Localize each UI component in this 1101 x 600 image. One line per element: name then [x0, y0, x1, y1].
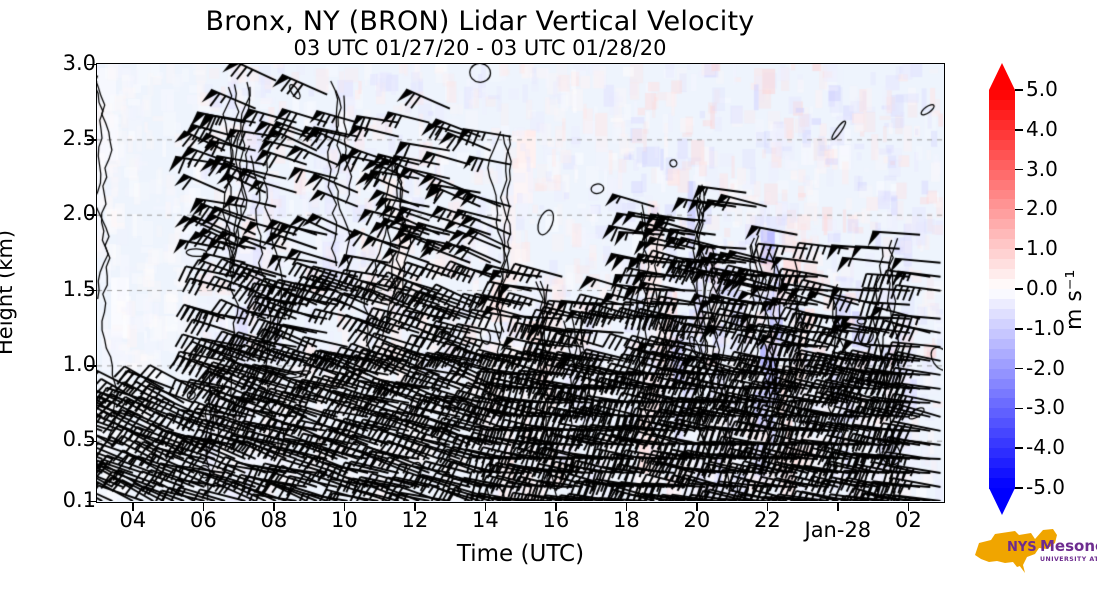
colorbar-segment — [989, 369, 1015, 380]
colorbar-extend-max-icon — [989, 63, 1015, 90]
x-tick-mark — [132, 502, 134, 511]
x-tick-label: 18 — [591, 508, 661, 532]
colorbar-tick-mark — [1015, 209, 1023, 211]
colorbar-tick-label: -1.0 — [1026, 316, 1065, 340]
colorbar-tick-label: 4.0 — [1026, 117, 1058, 141]
colorbar: 5.04.03.02.01.00.0-1.0-2.0-3.0-4.0-5.0 — [989, 63, 1015, 491]
colorbar-segment — [989, 180, 1015, 191]
colorbar-segment — [989, 319, 1015, 330]
colorbar-segment — [989, 110, 1015, 121]
x-tick-mark — [767, 502, 769, 511]
colorbar-segment — [989, 428, 1015, 439]
x-tick-label: 02 — [873, 508, 943, 532]
colorbar-extend-min-icon — [989, 488, 1015, 515]
colorbar-segment — [989, 160, 1015, 171]
colorbar-segment — [989, 279, 1015, 290]
colorbar-segment — [989, 130, 1015, 141]
colorbar-tick-label: 5.0 — [1026, 77, 1058, 101]
x-tick-label: 06 — [168, 508, 238, 532]
colorbar-unit-label: m s⁻¹ — [1062, 270, 1087, 330]
colorbar-tick-label: -4.0 — [1026, 435, 1065, 459]
colorbar-segment — [989, 219, 1015, 230]
nys-mesonet-logo: NYS Mesonet UNIVERSITY AT ALBANY — [969, 521, 1097, 579]
colorbar-segment — [989, 299, 1015, 310]
x-tick-mark — [344, 502, 346, 511]
colorbar-segment — [989, 448, 1015, 459]
colorbar-segment — [989, 408, 1015, 419]
logo-nys-text: NYS — [1007, 540, 1037, 555]
x-tick-mark — [696, 502, 698, 511]
colorbar-segment — [989, 209, 1015, 220]
colorbar-tick-label: 1.0 — [1026, 236, 1058, 260]
colorbar-tick-label: -2.0 — [1026, 356, 1065, 380]
colorbar-tick-label: 2.0 — [1026, 196, 1058, 220]
colorbar-segment — [989, 329, 1015, 340]
logo-mesonet-text: Mesonet — [1040, 537, 1097, 555]
x-tick-mark — [837, 502, 839, 511]
colorbar-tick-label: -3.0 — [1026, 395, 1065, 419]
x-tick-label: 22 — [732, 508, 802, 532]
x-tick-mark — [908, 502, 910, 511]
x-axis-label: Time (UTC) — [96, 541, 945, 567]
x-tick-label: Jan-28 — [803, 518, 873, 542]
x-tick-label: 16 — [521, 508, 591, 532]
colorbar-segment — [989, 120, 1015, 131]
x-tick-label: 20 — [662, 508, 732, 532]
colorbar-segment — [989, 359, 1015, 370]
x-tick-label: 08 — [239, 508, 309, 532]
logo-tail — [1019, 565, 1025, 573]
logo-graphic: NYS Mesonet UNIVERSITY AT ALBANY — [969, 521, 1097, 579]
colorbar-tick-mark — [1015, 248, 1023, 250]
colorbar-tick-mark — [1015, 447, 1023, 449]
colorbar-segment — [989, 199, 1015, 210]
colorbar-segment — [989, 170, 1015, 181]
x-tick-mark — [203, 502, 205, 511]
logo-university-text: UNIVERSITY AT ALBANY — [1040, 556, 1097, 563]
colorbar-tick-mark — [1015, 89, 1023, 91]
colorbar-tick-mark — [1015, 129, 1023, 131]
colorbar-tick-mark — [1015, 328, 1023, 330]
x-tick-label: 04 — [98, 508, 168, 532]
colorbar-tick-mark — [1015, 368, 1023, 370]
colorbar-segment — [989, 418, 1015, 429]
x-tick-mark — [485, 502, 487, 511]
colorbar-segment — [989, 259, 1015, 270]
colorbar-segment — [989, 100, 1015, 111]
x-tick-mark — [273, 502, 275, 511]
colorbar-segment — [989, 458, 1015, 469]
colorbar-segment — [989, 379, 1015, 390]
colorbar-gradient — [989, 90, 1015, 488]
x-tick-label: 10 — [309, 508, 379, 532]
colorbar-segment — [989, 229, 1015, 240]
x-tick-label: 14 — [450, 508, 520, 532]
x-tick-mark — [555, 502, 557, 511]
colorbar-tick-label: 0.0 — [1026, 276, 1058, 300]
colorbar-segment — [989, 349, 1015, 360]
colorbar-tick-mark — [1015, 487, 1023, 489]
colorbar-segment — [989, 398, 1015, 409]
colorbar-segment — [989, 150, 1015, 161]
x-tick-mark — [414, 502, 416, 511]
x-tick-label: 12 — [380, 508, 450, 532]
colorbar-tick-mark — [1015, 169, 1023, 171]
colorbar-segment — [989, 309, 1015, 320]
x-axis: 04060810121416182022Jan-2802 — [0, 0, 1101, 600]
colorbar-segment — [989, 478, 1015, 489]
colorbar-segment — [989, 468, 1015, 479]
colorbar-segment — [989, 249, 1015, 260]
colorbar-segment — [989, 269, 1015, 280]
colorbar-tick-label: 3.0 — [1026, 157, 1058, 181]
colorbar-tick-mark — [1015, 288, 1023, 290]
colorbar-tick-mark — [1015, 408, 1023, 410]
x-tick-mark — [626, 502, 628, 511]
colorbar-tick-label: -5.0 — [1026, 475, 1065, 499]
